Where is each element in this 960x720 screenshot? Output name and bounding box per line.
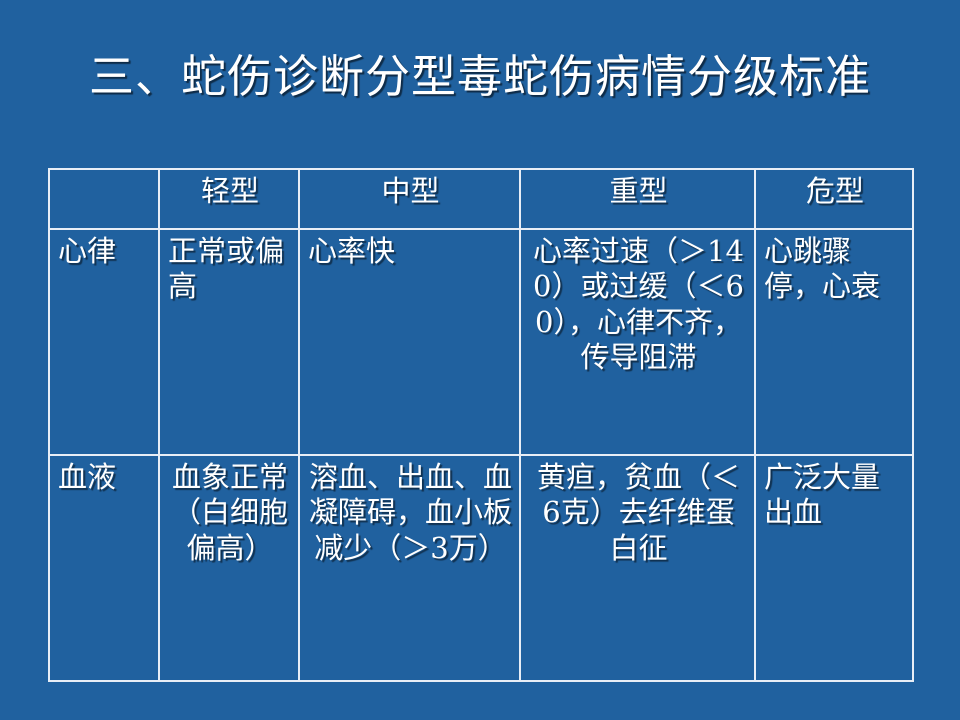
- table-header-critical: 危型: [755, 169, 913, 229]
- cell-blood-moderate: 溶血、出血、血凝障碍，血小板减少（＞3万）: [299, 455, 520, 681]
- row-category-heart-rhythm: 心律: [49, 229, 159, 455]
- table-header-row: 轻型 中型 重型 危型: [49, 169, 913, 229]
- table-header-mild: 轻型: [159, 169, 299, 229]
- cell-heart-rhythm-moderate: 心率快: [299, 229, 520, 455]
- table-header-blank: [49, 169, 159, 229]
- cell-heart-rhythm-mild: 正常或偏高: [159, 229, 299, 455]
- cell-blood-critical: 广泛大量出血: [755, 455, 913, 681]
- table-header-moderate: 中型: [299, 169, 520, 229]
- severity-grading-table: 轻型 中型 重型 危型 心律 正常或偏高 心率快 心率过速（＞140）或过缓（＜…: [48, 168, 914, 682]
- table-header-severe: 重型: [520, 169, 755, 229]
- cell-heart-rhythm-severe: 心率过速（＞140）或过缓（＜60），心律不齐，传导阻滞: [520, 229, 755, 455]
- table-row: 血液 血象正常（白细胞偏高） 溶血、出血、血凝障碍，血小板减少（＞3万） 黄疸，…: [49, 455, 913, 681]
- page-title: 三、蛇伤诊断分型毒蛇伤病情分级标准: [0, 52, 960, 102]
- cell-blood-mild: 血象正常（白细胞偏高）: [159, 455, 299, 681]
- cell-heart-rhythm-critical: 心跳骤停，心衰: [755, 229, 913, 455]
- cell-blood-severe: 黄疸，贫血（＜6克）去纤维蛋白征: [520, 455, 755, 681]
- table-row: 心律 正常或偏高 心率快 心率过速（＞140）或过缓（＜60），心律不齐，传导阻…: [49, 229, 913, 455]
- slide-canvas: 三、蛇伤诊断分型毒蛇伤病情分级标准 轻型 中型 重型 危型 心律 正常或偏高 心…: [0, 0, 960, 720]
- row-category-blood: 血液: [49, 455, 159, 681]
